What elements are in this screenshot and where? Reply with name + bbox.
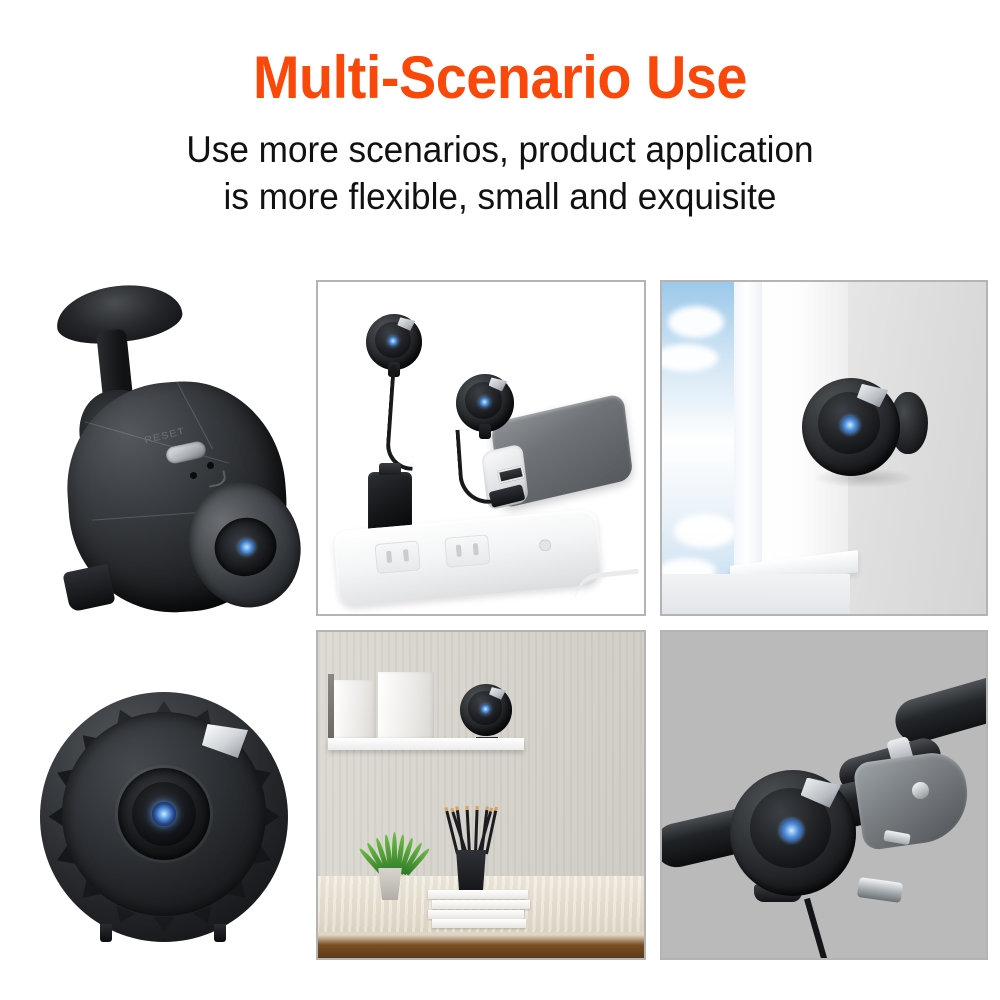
camera-on-shelf (460, 684, 512, 736)
subtitle-line-2: is more flexible, small and exquisite (25, 174, 975, 221)
lens-glow-icon (780, 819, 803, 842)
microphone-hole (190, 472, 197, 479)
page-title: Multi-Scenario Use (35, 46, 965, 109)
camera-foot (62, 564, 115, 613)
product-shot-column: RESET (0, 268, 312, 978)
book (334, 680, 376, 738)
lens-glow-icon (152, 802, 176, 826)
book (378, 672, 434, 738)
lens-glow-icon (481, 704, 490, 713)
subtitle-line-1: Use more scenarios, product application (25, 127, 975, 174)
stacked-book (432, 900, 530, 909)
product-hero-mounted-camera: RESET (22, 286, 292, 636)
product-front-view-camera (40, 692, 288, 942)
lens-glow-icon (841, 416, 859, 434)
shelf-books (334, 672, 454, 738)
pencil (465, 806, 471, 854)
bike-handlebar-panel[interactable] (660, 630, 988, 960)
stacked-book (432, 919, 526, 928)
camera-on-handlebar (730, 770, 856, 896)
camera-on-adapter (366, 314, 422, 370)
stacked-book (428, 890, 528, 899)
stacked-book (428, 910, 524, 919)
image-gallery: RESET (0, 268, 1000, 988)
lever-pivot-bolt (912, 782, 929, 799)
camera-stand-feet (96, 924, 232, 944)
page-header: Multi-Scenario Use Use more scenarios, p… (0, 0, 1000, 220)
cloud (668, 306, 724, 338)
indicator-dot (207, 462, 214, 469)
lower-wall (662, 574, 850, 614)
pencils (454, 802, 496, 854)
power-socket (374, 540, 420, 574)
page-subtitle: Use more scenarios, product application … (25, 127, 975, 220)
floating-shelf (328, 738, 524, 750)
wall-mount-panel[interactable] (660, 280, 988, 616)
book-stack (428, 890, 534, 928)
power-indicator-icon (539, 539, 552, 552)
cloud (674, 514, 736, 548)
scenario-panel-grid (316, 280, 988, 980)
lens-glow-icon (479, 397, 489, 407)
facet-wedge (265, 807, 280, 827)
power-socket (444, 534, 490, 568)
lens-glow-icon (237, 538, 257, 557)
wall-mounted-camera (802, 378, 900, 476)
plant-leaves (368, 830, 414, 874)
camera-on-power-bank (456, 374, 514, 432)
desk-shelf-panel[interactable] (316, 630, 646, 960)
usb-power-panel[interactable] (316, 280, 646, 616)
